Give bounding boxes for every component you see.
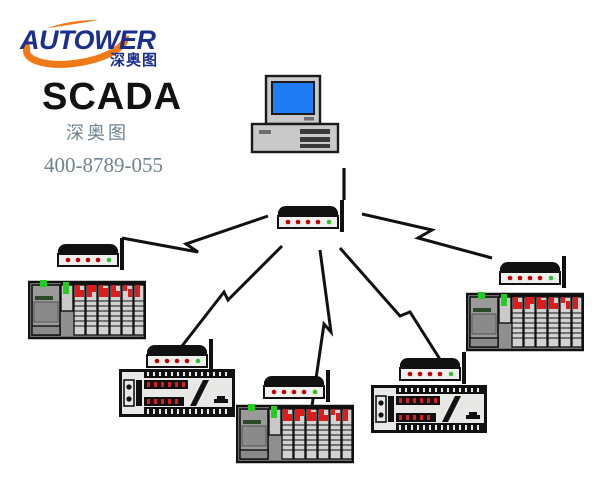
plc-rack-icon <box>236 400 354 464</box>
rtu-terminal-strip-top <box>396 388 484 394</box>
rtu-led-row-1 <box>396 396 440 405</box>
node-rtu-br[interactable] <box>370 384 488 432</box>
link-hub-left <box>122 216 268 252</box>
plc-cpu-led <box>248 404 255 411</box>
rtu-terminal-strip-bottom <box>396 423 484 430</box>
router-antenna-icon <box>462 352 466 384</box>
node-plc-bottom[interactable] <box>236 400 354 462</box>
monitor-screen <box>272 82 314 114</box>
node-plc-left[interactable] <box>28 276 146 338</box>
router-antenna-icon <box>562 256 566 288</box>
plc-rack-icon <box>28 276 146 340</box>
node-hub-router[interactable] <box>272 198 350 238</box>
plc-cpu-led <box>478 292 485 299</box>
router-antenna-icon <box>340 200 344 232</box>
router-antenna-icon <box>209 339 213 371</box>
router-antenna-icon <box>120 238 124 270</box>
node-plc-right[interactable] <box>466 288 584 350</box>
node-rtu-bl[interactable] <box>118 368 236 416</box>
rtu-icon <box>118 368 236 418</box>
computer-icon <box>248 74 344 170</box>
node-router-left[interactable] <box>52 236 130 276</box>
rtu-icon <box>370 384 488 434</box>
plc-rack-icon <box>466 288 584 352</box>
plc-cpu-led <box>40 280 47 287</box>
rtu-led-row-1 <box>144 380 188 389</box>
diagram-canvas: AUTOWER 深奥图 SCADA 深奥图 400-8789-055 <box>0 0 600 480</box>
router-icon <box>52 236 130 278</box>
link-hub-right <box>362 214 492 258</box>
router-antenna-icon <box>326 370 330 402</box>
router-icon <box>272 198 350 240</box>
rtu-terminal-strip-bottom <box>144 407 232 414</box>
node-scada-server[interactable] <box>248 74 344 170</box>
rtu-terminal-strip-top <box>144 372 232 378</box>
link-hub-bl <box>182 246 282 346</box>
